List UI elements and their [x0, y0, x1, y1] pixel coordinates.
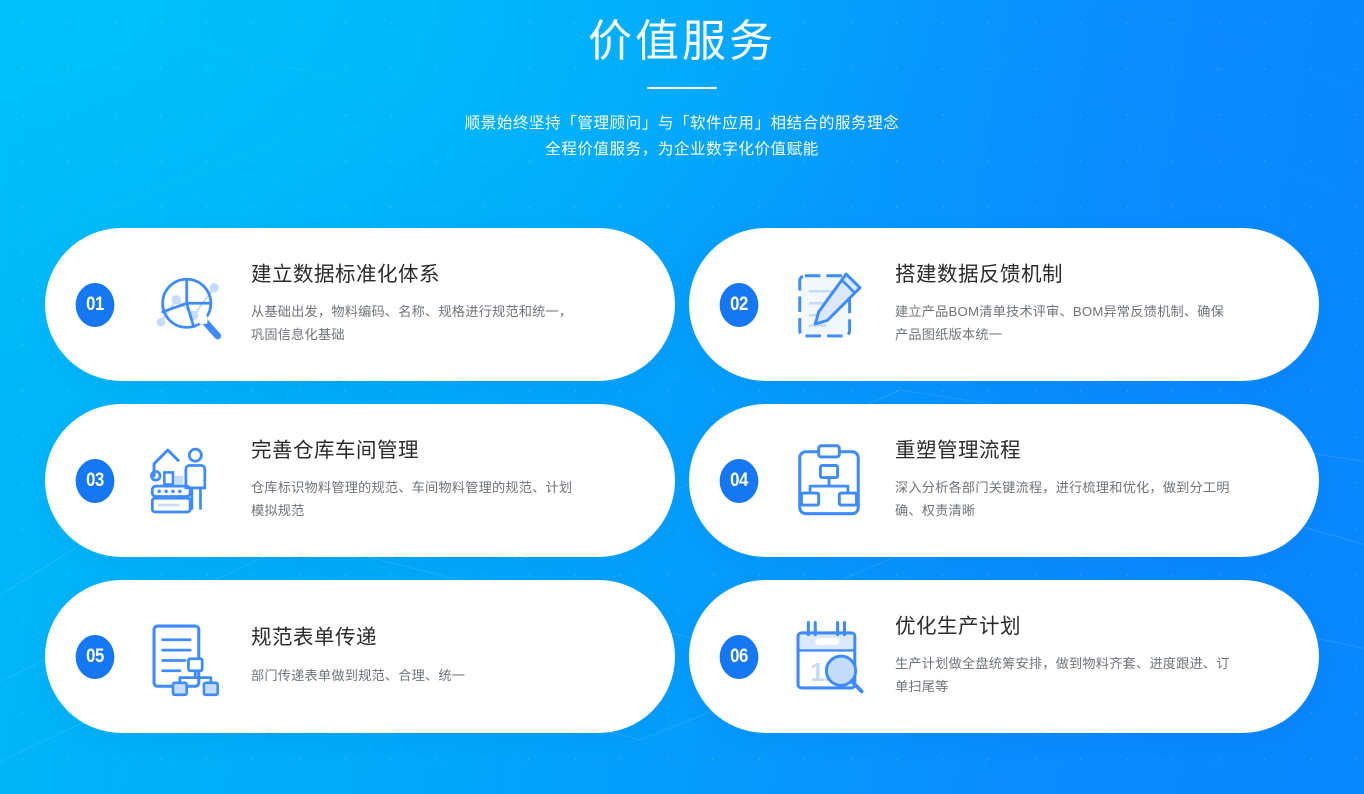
card-number-badge: 03	[76, 459, 115, 503]
card-description: 从基础出发，物料编码、名称、规格进行规范和统一，巩固信息化基础	[251, 300, 581, 346]
page-title: 价值服务	[0, 14, 1364, 69]
card-title: 重塑管理流程	[895, 439, 1289, 464]
calendar-magnifier-icon: 11	[777, 609, 881, 705]
card-number-badge: 04	[720, 459, 759, 503]
card-title: 搭建数据反馈机制	[895, 263, 1289, 288]
service-card-grid: 01 建立数据标准化体系	[45, 228, 1319, 733]
document-hierarchy-icon	[133, 609, 237, 705]
subtitle-line-1: 顺景始终坚持「管理顾问」与「软件应用」相结合的服务理念	[0, 111, 1364, 137]
card-text-block: 建立数据标准化体系 从基础出发，物料编码、名称、规格进行规范和统一，巩固信息化基…	[237, 263, 649, 347]
service-card-04[interactable]: 04 重塑管理流程 深入分析各部门关键流程，进行梳理和优化，做到分工明确、权责清…	[689, 404, 1319, 557]
card-description: 部门传递表单做到规范、合理、统一	[251, 664, 581, 687]
document-pencil-icon	[777, 257, 881, 353]
value-service-page: 价值服务 顺景始终坚持「管理顾问」与「软件应用」相结合的服务理念 全程价值服务，…	[0, 0, 1364, 794]
pie-chart-magnifier-icon	[133, 257, 237, 353]
card-text-block: 完善仓库车间管理 仓库标识物料管理的规范、车间物料管理的规范、计划模拟规范	[237, 439, 649, 523]
service-card-05[interactable]: 05 规范表单传递 部门传递表单做到规范、合理、统一	[45, 580, 675, 733]
card-text-block: 搭建数据反馈机制 建立产品BOM清单技术评审、BOM异常反馈机制、确保产品图纸版…	[881, 263, 1293, 347]
card-number-badge: 01	[76, 283, 115, 327]
page-header: 价值服务 顺景始终坚持「管理顾问」与「软件应用」相结合的服务理念 全程价值服务，…	[0, 0, 1364, 163]
card-title: 建立数据标准化体系	[251, 263, 645, 288]
card-description: 仓库标识物料管理的规范、车间物料管理的规范、计划模拟规范	[251, 476, 581, 522]
service-card-01[interactable]: 01 建立数据标准化体系	[45, 228, 675, 381]
clipboard-flowchart-icon	[777, 433, 881, 529]
card-number-badge: 06	[720, 635, 759, 679]
subtitle-line-2: 全程价值服务，为企业数字化价值赋能	[0, 137, 1364, 163]
card-title: 优化生产计划	[895, 615, 1289, 640]
service-card-02[interactable]: 02 搭建数据反馈机制 建立产品BOM清单技术评审、BOM异常反馈机制、确保产品…	[689, 228, 1319, 381]
page-subtitle: 顺景始终坚持「管理顾问」与「软件应用」相结合的服务理念 全程价值服务，为企业数字…	[0, 111, 1364, 163]
card-description: 建立产品BOM清单技术评审、BOM异常反馈机制、确保产品图纸版本统一	[895, 300, 1231, 346]
factory-worker-conveyor-icon	[133, 433, 237, 529]
card-title: 完善仓库车间管理	[251, 439, 645, 464]
card-text-block: 重塑管理流程 深入分析各部门关键流程，进行梳理和优化，做到分工明确、权责清晰	[881, 439, 1293, 523]
card-number-badge: 05	[76, 635, 115, 679]
card-title: 规范表单传递	[251, 626, 645, 651]
card-number-badge: 02	[720, 283, 759, 327]
service-card-06[interactable]: 06 11 优化生产计划 生产计划做全盘统筹安排，做到物料齐套、进度跟进、订单扫…	[689, 580, 1319, 733]
card-text-block: 优化生产计划 生产计划做全盘统筹安排，做到物料齐套、进度跟进、订单扫尾等	[881, 615, 1293, 699]
card-text-block: 规范表单传递 部门传递表单做到规范、合理、统一	[237, 626, 649, 687]
title-divider	[647, 87, 717, 89]
card-description: 生产计划做全盘统筹安排，做到物料齐套、进度跟进、订单扫尾等	[895, 652, 1231, 698]
service-card-03[interactable]: 03 完善仓库车间管理 仓	[45, 404, 675, 557]
card-description: 深入分析各部门关键流程，进行梳理和优化，做到分工明确、权责清晰	[895, 476, 1231, 522]
